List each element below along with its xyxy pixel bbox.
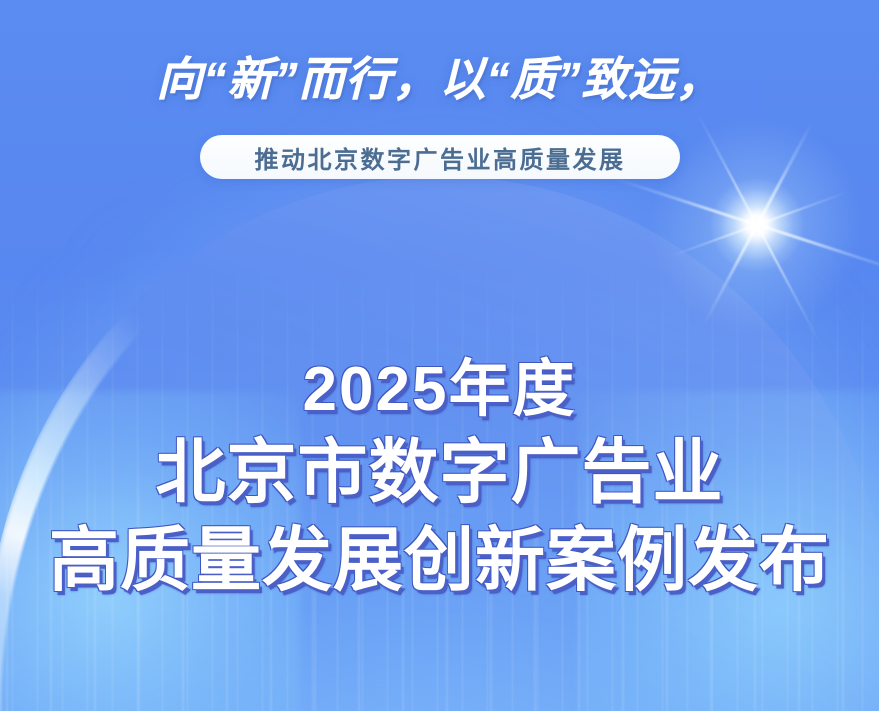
flare-core-icon: [711, 179, 803, 271]
headline-slogan: 向“新”而行，以“质”致远，: [0, 56, 879, 102]
title-line-2: 北京市数字广告业: [0, 428, 879, 516]
subtitle-badge: 推动北京数字广告业高质量发展: [200, 135, 680, 179]
promo-poster: 向“新”而行，以“质”致远， 推动北京数字广告业高质量发展 2025年度 北京市…: [0, 0, 879, 711]
subtitle-badge-label: 推动北京数字广告业高质量发展: [255, 140, 626, 175]
title-line-1: 2025年度: [0, 352, 879, 428]
title-line-3: 高质量发展创新案例发布: [0, 516, 879, 604]
page-title: 2025年度 北京市数字广告业 高质量发展创新案例发布: [0, 352, 879, 604]
